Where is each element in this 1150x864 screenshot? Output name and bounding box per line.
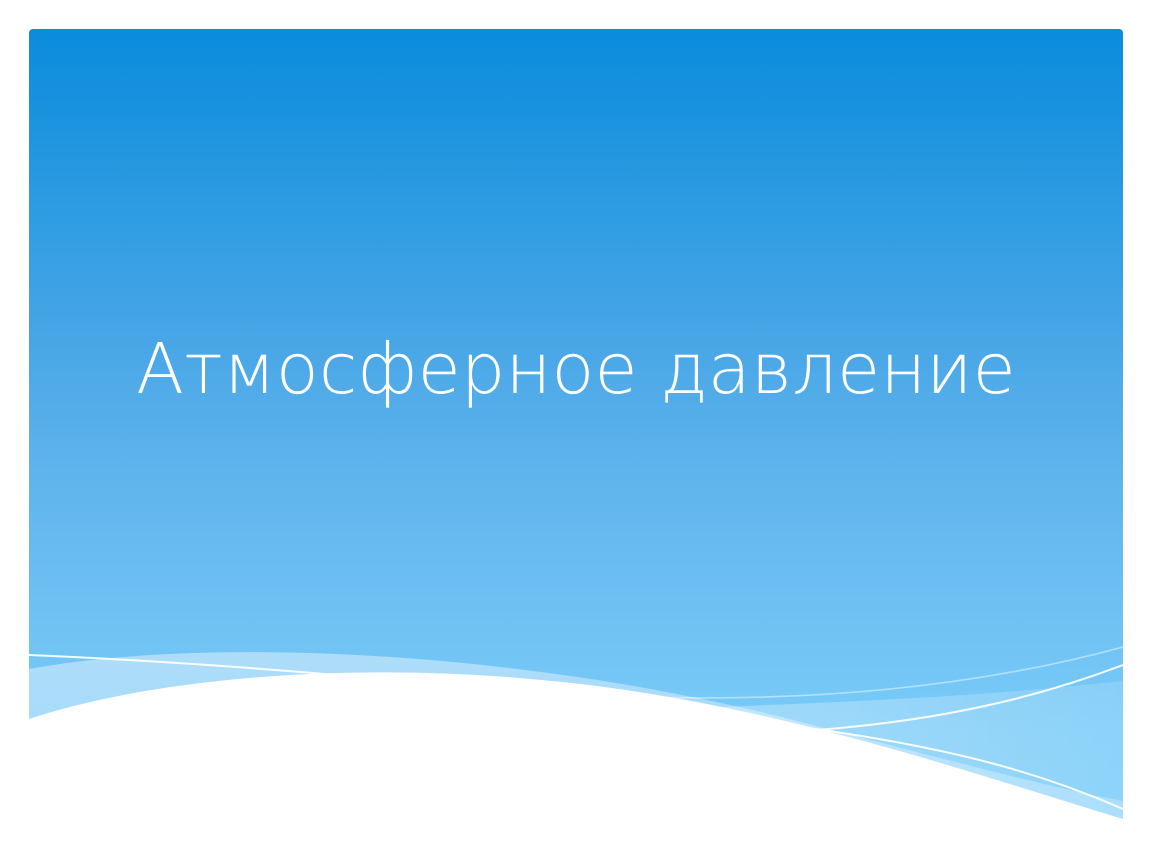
presentation-slide: Атмосферное давление [29,29,1123,849]
title-placeholder[interactable]: Атмосферное давление [29,329,1123,410]
waveform-decoration [29,29,1123,849]
slide-title: Атмосферное давление [89,329,1063,410]
slide-page: Атмосферное давление [0,0,1150,864]
